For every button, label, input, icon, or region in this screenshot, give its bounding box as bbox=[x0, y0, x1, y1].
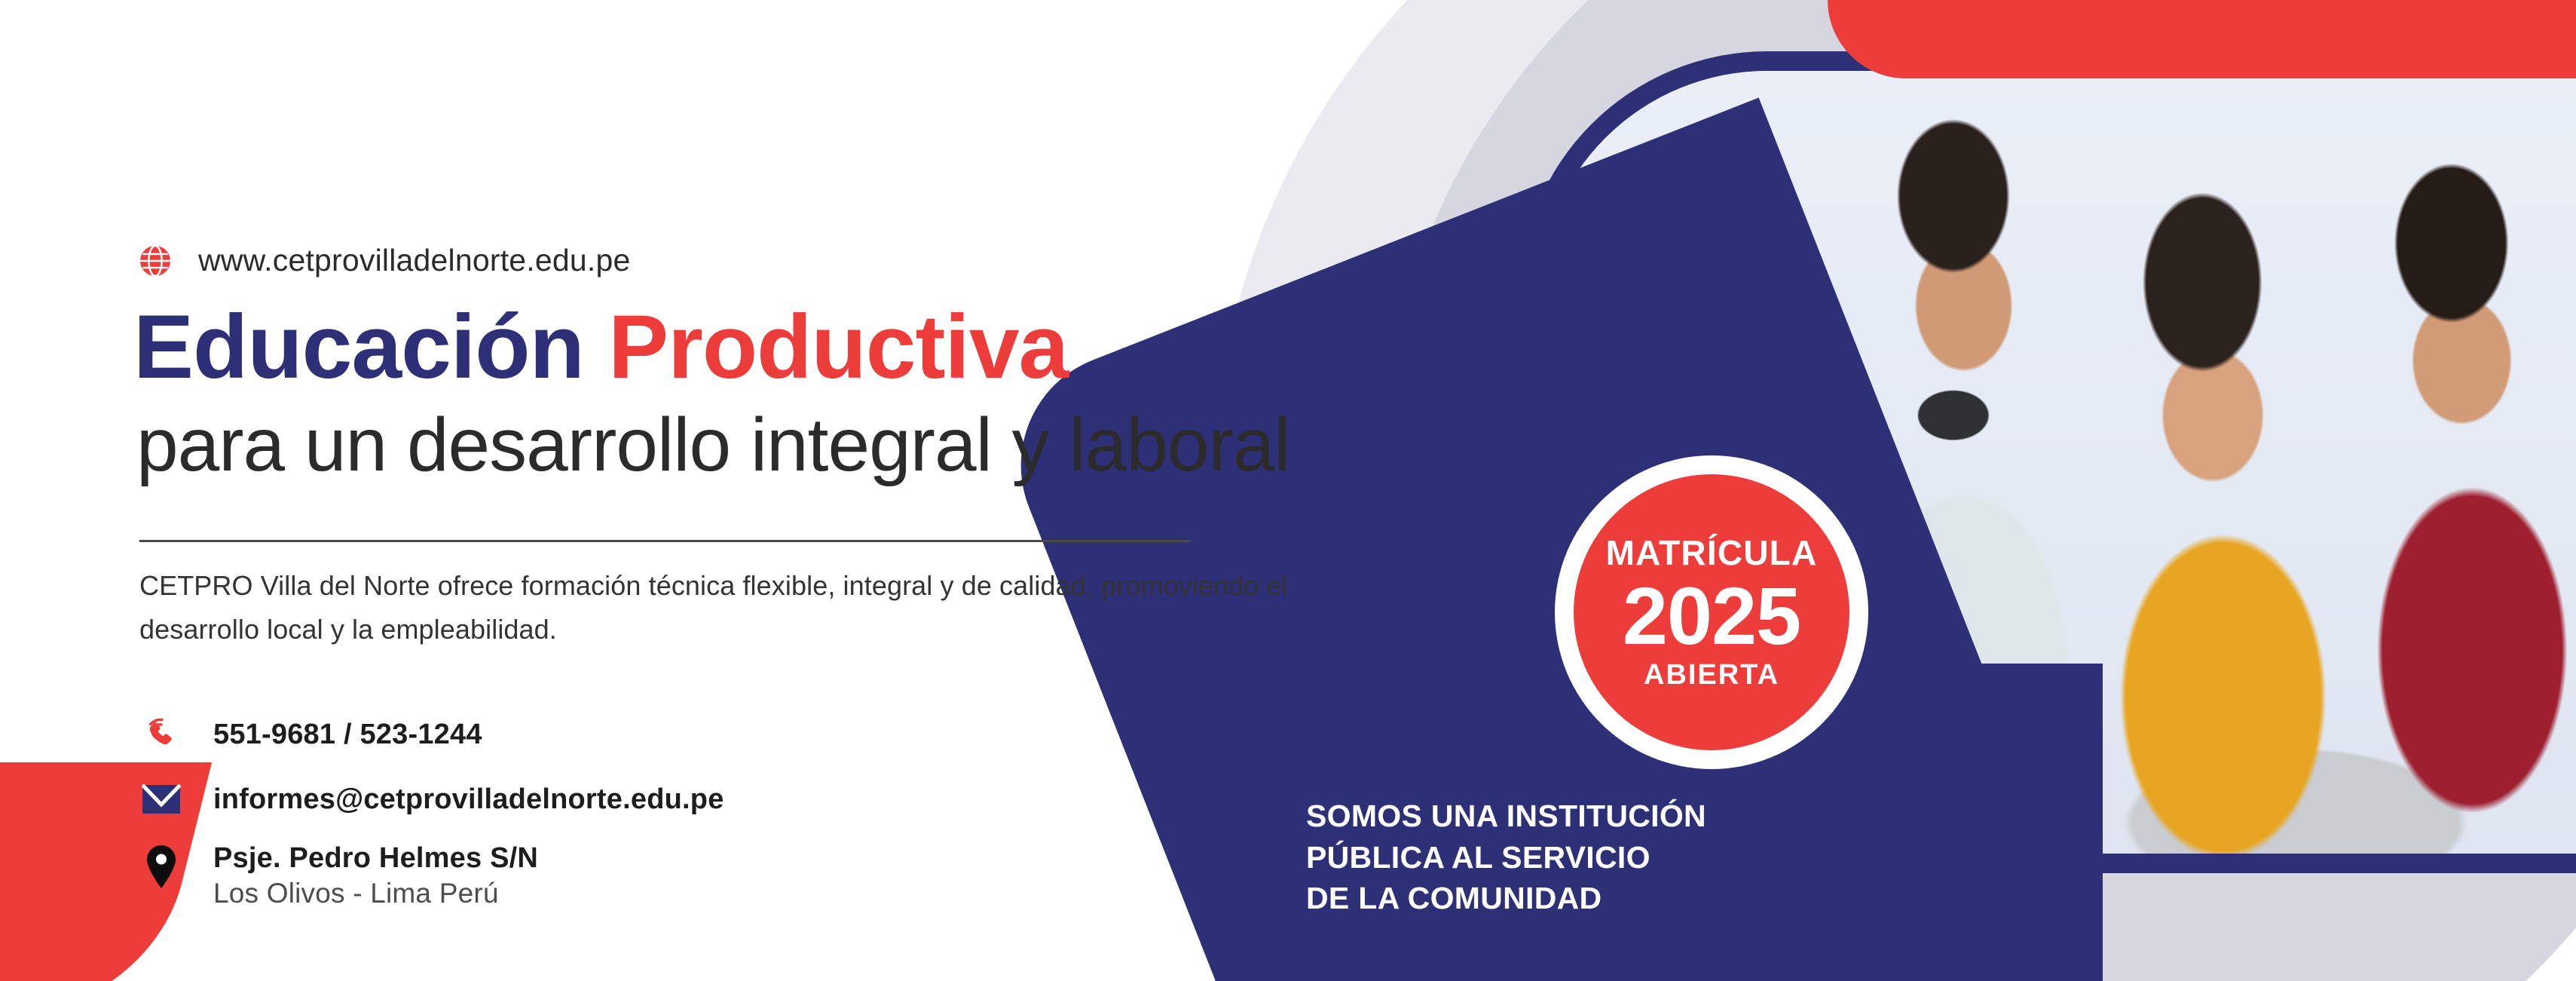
contact-list: 551-9681 / 523-1244 informes@cetprovilla… bbox=[139, 713, 724, 909]
divider bbox=[139, 540, 1191, 542]
headline-subline: para un desarrollo integral y laboral bbox=[136, 407, 1290, 483]
tagline-line-1: SOMOS UNA INSTITUCIÓN bbox=[1306, 796, 1706, 837]
phone-number[interactable]: 551-9681 / 523-1244 bbox=[213, 719, 482, 751]
address-block: Psje. Pedro Helmes S/N Los Olivos - Lima… bbox=[213, 842, 538, 909]
headline-part-blue: Educación bbox=[133, 296, 584, 397]
phone-icon bbox=[139, 713, 183, 756]
globe-icon bbox=[139, 245, 171, 277]
contact-row-phone[interactable]: 551-9681 / 523-1244 bbox=[139, 713, 724, 756]
email-address[interactable]: informes@cetprovilladelnorte.edu.pe bbox=[213, 783, 724, 816]
tagline-line-2: PÚBLICA AL SERVICIO bbox=[1306, 837, 1706, 878]
red-top-bar-decoration bbox=[1828, 0, 2576, 78]
address-line-2: Los Olivos - Lima Perú bbox=[213, 878, 538, 909]
tagline-line-3: DE LA COMUNIDAD bbox=[1306, 878, 1706, 919]
address-line-1: Psje. Pedro Helmes S/N bbox=[213, 842, 538, 875]
page-title: Educación Productiva bbox=[133, 302, 1068, 392]
promo-banner: www.cetprovilladelnorte.edu.pe Educación… bbox=[0, 0, 2576, 981]
map-pin-icon bbox=[139, 845, 183, 889]
website-url[interactable]: www.cetprovilladelnorte.edu.pe bbox=[198, 243, 631, 278]
badge-year: 2025 bbox=[1623, 573, 1800, 659]
headline-part-red: Productiva bbox=[608, 296, 1068, 397]
contact-row-email[interactable]: informes@cetprovilladelnorte.edu.pe bbox=[139, 777, 724, 821]
badge-bottom-label: ABIERTA bbox=[1644, 661, 1779, 689]
institution-tagline: SOMOS UNA INSTITUCIÓN PÚBLICA AL SERVICI… bbox=[1306, 796, 1706, 919]
left-content-column: www.cetprovilladelnorte.edu.pe Educación… bbox=[139, 0, 1270, 981]
badge-top-label: MATRÍCULA bbox=[1606, 535, 1818, 570]
envelope-icon bbox=[139, 777, 183, 821]
contact-row-address[interactable]: Psje. Pedro Helmes S/N Los Olivos - Lima… bbox=[139, 842, 724, 909]
website-row[interactable]: www.cetprovilladelnorte.edu.pe bbox=[139, 243, 631, 278]
enrollment-badge[interactable]: MATRÍCULA 2025 ABIERTA bbox=[1574, 474, 1849, 750]
description-paragraph: CETPRO Villa del Norte ofrece formación … bbox=[139, 564, 1345, 652]
